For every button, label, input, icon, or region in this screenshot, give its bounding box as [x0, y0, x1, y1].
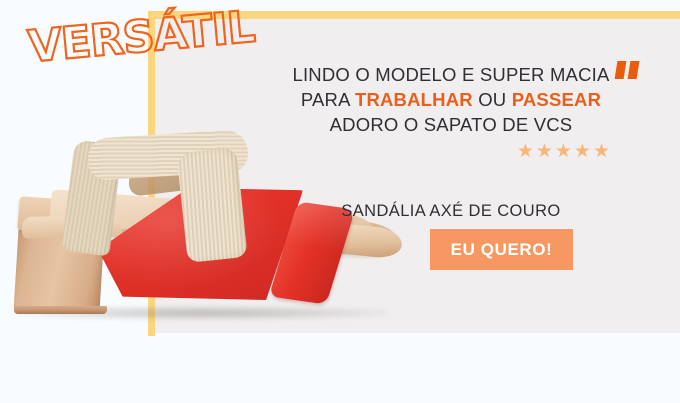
eu-quero-button[interactable]: EU QUERO! — [430, 229, 573, 270]
testimonial-line-2: PARA TRABALHAR OU PASSEAR — [290, 87, 612, 112]
quote-bar-left — [615, 61, 627, 79]
testimonial-line-2-mid: OU — [473, 89, 512, 110]
star-rating: ★★★★★ — [290, 142, 612, 162]
testimonial-line-1: LINDO O MODELO E SUPER MACIA — [290, 62, 612, 87]
sandal-ankle-strap-front — [176, 147, 247, 263]
quote-mark-icon — [616, 61, 640, 79]
testimonial-line-2-pre: PARA — [301, 89, 355, 110]
testimonial-highlight-trabalhar: TRABALHAR — [355, 89, 473, 110]
sandal-heel-cap — [14, 306, 107, 314]
testimonial-highlight-passear: PASSEAR — [512, 89, 601, 110]
product-name: SANDÁLIA AXÉ DE COURO — [290, 202, 612, 221]
testimonial-text: LINDO O MODELO E SUPER MACIA PARA TRABAL… — [290, 62, 612, 137]
promo-banner: VERSÁTIL LINDO O MODELO E SUPER MACIA PA… — [0, 0, 680, 403]
testimonial-line-3: ADORO O SAPATO DE VCS — [290, 112, 612, 137]
quote-bar-right — [628, 61, 640, 79]
